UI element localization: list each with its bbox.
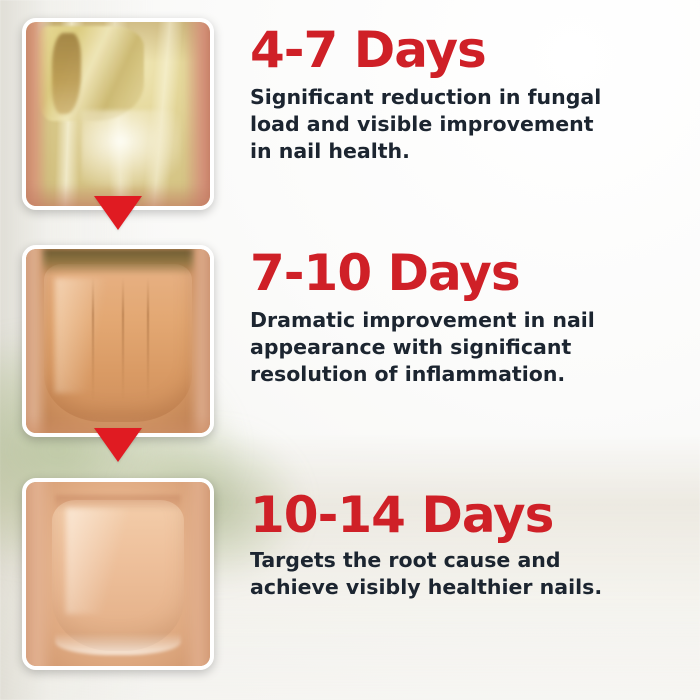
stage-text-1: 4-7 Days Significant reduction in fungal… — [250, 25, 670, 165]
stage-row-2 — [22, 245, 214, 437]
stage-1-body: Significant reduction in fungal load and… — [250, 84, 622, 165]
down-arrow-icon-1 — [94, 196, 142, 230]
stage-3-headline: 10-14 Days — [250, 490, 670, 541]
down-arrow-icon-2 — [94, 428, 142, 462]
nail-photo-stage-1 — [22, 18, 214, 210]
stage-text-3: 10-14 Days Targets the root cause and ac… — [250, 490, 670, 601]
treatment-timeline-poster: 4-7 Days Significant reduction in fungal… — [0, 0, 700, 700]
nail-photo-stage-2 — [22, 245, 214, 437]
stage-row-1 — [22, 18, 214, 210]
stage-text-2: 7-10 Days Dramatic improvement in nail a… — [250, 248, 670, 388]
stage-row-3 — [22, 478, 214, 670]
stage-2-headline: 7-10 Days — [250, 248, 670, 299]
stage-2-body: Dramatic improvement in nail appearance … — [250, 307, 622, 388]
nail-photo-stage-3 — [22, 478, 214, 670]
stage-3-body: Targets the root cause and achieve visib… — [250, 547, 622, 601]
stage-1-headline: 4-7 Days — [250, 25, 670, 76]
